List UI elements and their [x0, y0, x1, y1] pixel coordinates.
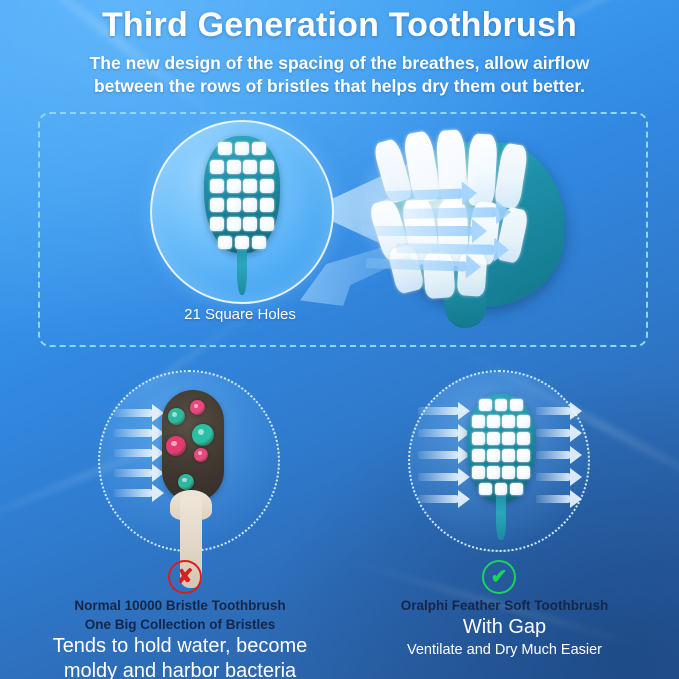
infographic-canvas: Third Generation Toothbrush The new desi…	[0, 0, 679, 679]
subtitle-line-1: The new design of the spacing of the bre…	[0, 52, 679, 75]
bristle-tuft	[210, 160, 224, 174]
through-airflow-arrow-out	[536, 422, 582, 444]
check-icon: ✔	[491, 567, 508, 587]
bristle-fuzz	[354, 134, 474, 284]
bristle-tuft	[517, 415, 530, 428]
bristle-tuft	[510, 399, 523, 411]
bristle-tuft	[487, 466, 500, 479]
bristle-tuft	[260, 217, 274, 231]
blocked-airflow-arrow	[114, 482, 164, 504]
left-caption-line-1: Normal 10000 Bristle Toothbrush	[0, 596, 360, 615]
bristle-tuft	[487, 432, 500, 445]
arrow-shaft	[114, 429, 152, 437]
arrow-shaft	[418, 473, 458, 481]
bristle-tuft	[260, 179, 274, 193]
bristle-tuft	[517, 466, 530, 479]
bristle-tuft	[210, 179, 224, 193]
blocked-airflow-arrow	[114, 402, 164, 424]
bristle-tuft	[487, 449, 500, 462]
arrow-shaft	[418, 429, 458, 437]
right-caption-line-1: Oralphi Feather Soft Toothbrush	[330, 596, 679, 615]
arrow-shaft	[536, 451, 570, 459]
right-caption-block: Oralphi Feather Soft Toothbrush With Gap…	[330, 596, 679, 661]
bristle-tuft	[252, 236, 266, 249]
blocked-airflow-arrow	[114, 442, 164, 464]
bristle-tuft	[243, 179, 257, 193]
arrow-head	[570, 424, 582, 442]
bristle-tuft	[502, 415, 515, 428]
bristle-tuft	[243, 160, 257, 174]
bristle-tuft-grid	[204, 136, 280, 253]
toothbrush-3d-closeup	[372, 128, 582, 318]
page-subtitle: The new design of the spacing of the bre…	[0, 52, 679, 98]
left-caption-block: Normal 10000 Bristle Toothbrush One Big …	[0, 596, 360, 679]
bristle-tuft	[472, 415, 485, 428]
cross-badge: ✘	[168, 560, 202, 594]
check-badge: ✔	[482, 560, 516, 594]
bristle-tuft	[260, 160, 274, 174]
bristle-tuft	[495, 399, 508, 411]
bristle-tuft	[210, 198, 224, 212]
toothbrush-head-flat	[204, 136, 280, 286]
bristle-tuft	[510, 483, 523, 495]
arrow-shaft	[114, 449, 152, 457]
bristle-tuft	[472, 432, 485, 445]
arrow-shaft	[536, 429, 570, 437]
arrow-shaft	[536, 495, 570, 503]
bacteria-dot	[192, 424, 214, 446]
bacteria-dot	[194, 448, 208, 462]
bristle-tuft	[218, 236, 232, 249]
bristle-tuft	[210, 217, 224, 231]
bristle-tuft	[472, 449, 485, 462]
through-airflow-arrow-out	[536, 466, 582, 488]
left-caption-line-3: Tends to hold water, become	[0, 634, 360, 659]
arrow-shaft	[536, 407, 570, 415]
bristle-tuft	[517, 432, 530, 445]
arrow-head	[570, 490, 582, 508]
through-airflow-arrow-in	[418, 488, 470, 510]
blocked-airflow-arrow	[114, 462, 164, 484]
arrow-shaft	[418, 495, 458, 503]
magnifier-caption: 21 Square Holes	[150, 306, 330, 323]
bristle-tuft	[502, 466, 515, 479]
left-caption-line-2: One Big Collection of Bristles	[0, 615, 360, 634]
magnifier-circle	[150, 120, 334, 304]
bacteria-dot	[178, 474, 194, 490]
bristle-tuft-grid	[467, 394, 535, 502]
through-airflow-arrow-in	[418, 466, 470, 488]
arrow-shaft	[114, 489, 152, 497]
bacteria-dot	[190, 400, 205, 415]
bristle-tuft	[502, 432, 515, 445]
bristle-tuft	[227, 217, 241, 231]
arrow-shaft	[114, 409, 152, 417]
bristle-tuft	[227, 179, 241, 193]
bristle-tuft	[502, 449, 515, 462]
gapped-toothbrush-head	[467, 394, 535, 532]
bristle-tuft	[479, 399, 492, 411]
bristle-tuft	[227, 160, 241, 174]
through-airflow-arrow-in	[418, 422, 470, 444]
bristle-tuft	[252, 142, 266, 155]
page-title: Third Generation Toothbrush	[0, 6, 679, 45]
bacteria-dot	[166, 436, 186, 456]
left-caption-line-4: moldy and harbor bacteria	[0, 659, 360, 679]
bristle-tuft	[487, 415, 500, 428]
bristle-tuft	[235, 142, 249, 155]
through-airflow-arrow-in	[418, 400, 470, 422]
subtitle-line-2: between the rows of bristles that helps …	[0, 75, 679, 98]
through-airflow-arrow-out	[536, 444, 582, 466]
through-airflow-arrow-out	[536, 400, 582, 422]
arrow-head	[570, 402, 582, 420]
through-airflow-arrow-out	[536, 488, 582, 510]
bristle-tuft	[472, 466, 485, 479]
arrow-head	[570, 468, 582, 486]
right-caption-line-2: With Gap	[330, 615, 679, 640]
arrow-shaft	[418, 407, 458, 415]
bristle-tuft	[243, 217, 257, 231]
comparison-right-circle	[408, 370, 590, 552]
arrow-shaft	[418, 451, 458, 459]
bacteria-dot	[168, 408, 185, 425]
arrow-head	[152, 484, 164, 502]
bristle-tuft	[243, 198, 257, 212]
through-airflow-arrow-in	[418, 444, 470, 466]
arrow-head	[570, 446, 582, 464]
bristle-tuft	[495, 483, 508, 495]
comparison-left-circle	[98, 370, 280, 552]
bristle-tuft	[227, 198, 241, 212]
bristle-tuft	[517, 449, 530, 462]
dirty-toothbrush-head	[162, 390, 224, 502]
arrow-shaft	[536, 473, 570, 481]
bristle-tuft	[218, 142, 232, 155]
arrow-shaft	[114, 469, 152, 477]
bristle-tuft	[235, 236, 249, 249]
bristle-tuft	[479, 483, 492, 495]
cross-icon: ✘	[177, 567, 194, 587]
right-caption-line-3: Ventilate and Dry Much Easier	[330, 640, 679, 661]
bristle-tuft	[260, 198, 274, 212]
blocked-airflow-arrow	[114, 422, 164, 444]
